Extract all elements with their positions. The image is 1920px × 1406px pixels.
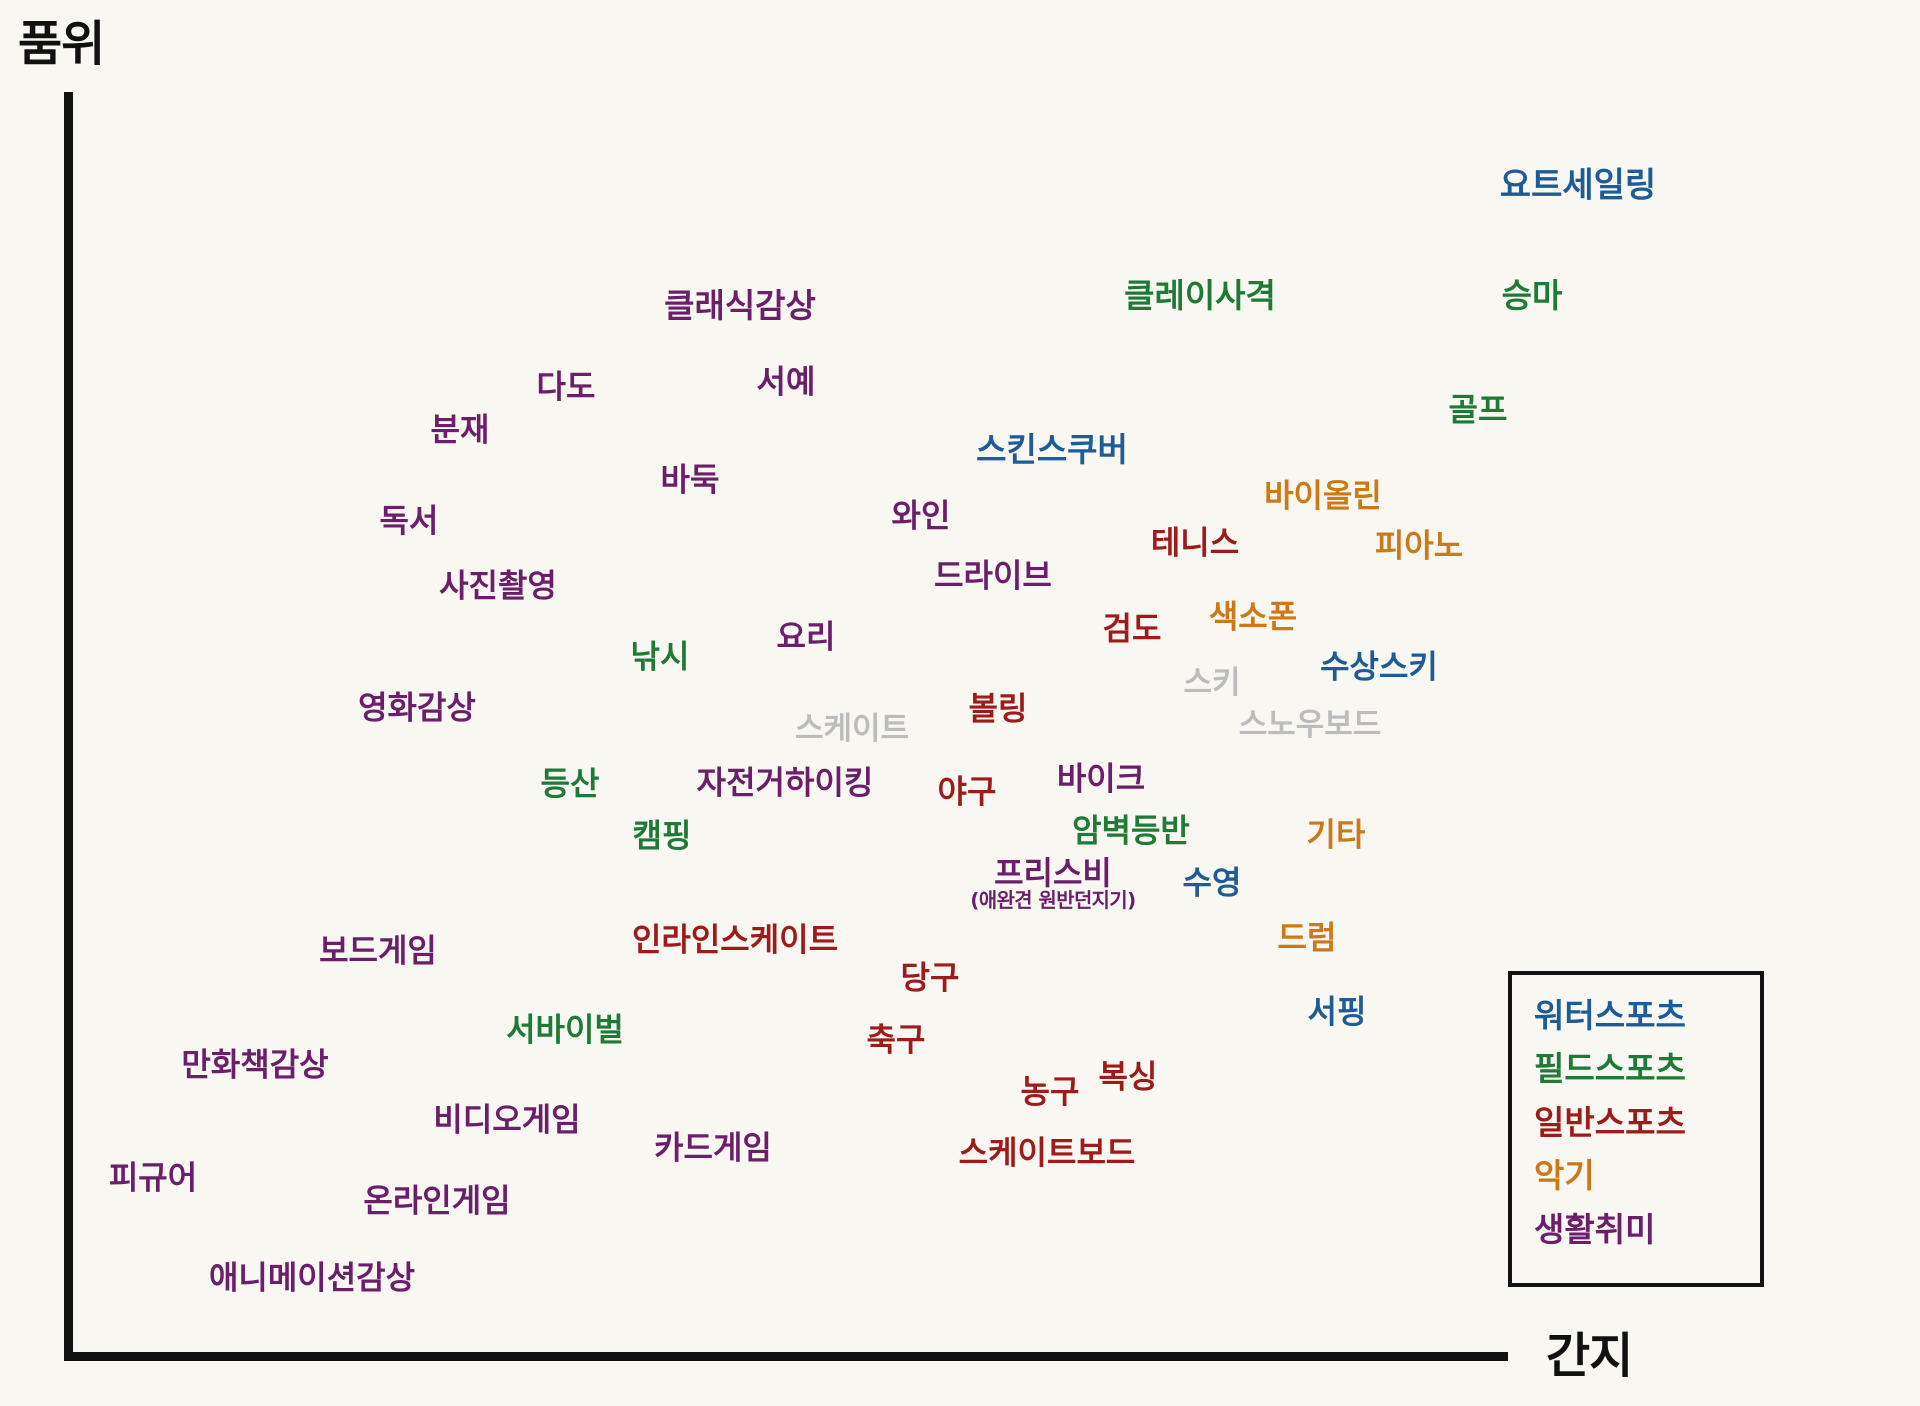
data-point-label: 검도 (1103, 613, 1162, 646)
data-point-name: 독서 (380, 502, 439, 540)
data-point-name: 자전거하이킹 (697, 764, 874, 802)
data-point-name: 승마 (1502, 276, 1563, 315)
data-point-name: 암벽등반 (1072, 812, 1190, 850)
data-point-label: 피아노 (1375, 530, 1463, 563)
data-point-name: 골프 (1449, 391, 1508, 429)
data-point-name: 당구 (901, 959, 960, 997)
data-point-label: 골프 (1449, 394, 1508, 427)
data-point-name: 서바이벌 (506, 1011, 624, 1049)
data-point-name: 드라이브 (934, 557, 1052, 595)
data-point-label: 카드게임 (654, 1132, 772, 1165)
data-point-name: 프리스비 (994, 854, 1112, 892)
data-point-name: 축구 (867, 1021, 926, 1059)
data-point-name: 색소폰 (1209, 598, 1297, 636)
data-point-label: 승마 (1502, 279, 1563, 313)
x-axis-line (64, 1352, 1508, 1361)
data-point-label: 인라인스케이트 (632, 924, 838, 957)
data-point-name: 온라인게임 (363, 1182, 510, 1220)
data-point-name: 드럼 (1278, 919, 1337, 957)
y-axis-line (64, 92, 73, 1360)
data-point-label: 서바이벌 (506, 1014, 624, 1047)
legend-item-water: 워터스포츠 (1534, 989, 1760, 1042)
data-point-label: 야구 (938, 776, 997, 809)
legend-item-life: 생활취미 (1534, 1203, 1760, 1256)
data-point-label: 당구 (901, 962, 960, 995)
data-point-label: 캠핑 (633, 820, 692, 853)
data-point-name: 기타 (1307, 816, 1366, 854)
data-point-label: 다도 (537, 371, 596, 404)
data-point-label: 볼링 (969, 693, 1028, 726)
data-point-label: 기타 (1307, 819, 1366, 852)
data-point-name: 테니스 (1151, 524, 1239, 562)
y-axis-label: 품위 (18, 4, 104, 74)
legend-item-field: 필드스포츠 (1534, 1042, 1760, 1095)
data-point-label: 스키 (1183, 668, 1240, 700)
data-point-label: 수영 (1183, 867, 1242, 900)
data-point-name: 스케이트보드 (959, 1134, 1136, 1172)
scatter-chart-canvas: 품위 간지 요트세일링클레이사격승마클래식감상서예다도골프분재스킨스쿠버바둑바이… (0, 0, 1920, 1406)
data-point-name: 바둑 (661, 461, 720, 499)
data-point-name: 바이크 (1057, 760, 1145, 798)
data-point-label: 온라인게임 (363, 1185, 510, 1218)
data-point-label: 보드게임 (319, 935, 437, 968)
data-point-label: 애니메이션감상 (209, 1262, 415, 1295)
data-point-label: 영화감상 (358, 692, 476, 725)
data-point-name: 농구 (1021, 1073, 1080, 1111)
data-point-name: 만화책감상 (181, 1046, 328, 1084)
data-point-label: 등산 (541, 768, 600, 801)
data-point-name: 스케이트 (795, 711, 909, 747)
data-point-sublabel: (애완견 원반던지기) (970, 891, 1135, 911)
data-point-name: 다도 (537, 368, 596, 406)
data-point-name: 와인 (892, 497, 951, 535)
data-point-label: 사진촬영 (439, 570, 557, 603)
data-point-name: 야구 (938, 773, 997, 811)
data-point-label: 서예 (757, 366, 816, 399)
legend-items: 워터스포츠필드스포츠일반스포츠악기생활취미 (1534, 989, 1760, 1256)
data-point-name: 보드게임 (319, 932, 437, 970)
data-point-label: 서핑 (1308, 996, 1367, 1029)
data-point-label: 드라이브 (934, 560, 1052, 593)
data-point-name: 수상스키 (1320, 648, 1438, 686)
data-point-label: 바이크 (1057, 763, 1145, 796)
data-point-label: 요리 (777, 621, 836, 654)
data-point-label: 비디오게임 (433, 1104, 580, 1137)
data-point-label: 암벽등반 (1072, 815, 1190, 848)
legend-item-music: 악기 (1534, 1149, 1760, 1202)
data-point-label: 수상스키 (1320, 651, 1438, 684)
data-point-label: 자전거하이킹 (697, 767, 874, 800)
data-point-label: 피규어 (109, 1162, 197, 1195)
data-point-name: 피규어 (109, 1159, 197, 1197)
data-point-name: 인라인스케이트 (632, 921, 838, 959)
data-point-label: 바둑 (661, 464, 720, 497)
data-point-name: 요트세일링 (1500, 166, 1656, 206)
data-point-label: 바이올린 (1264, 480, 1382, 513)
data-point-label: 클래식감상 (664, 289, 816, 323)
x-axis-label: 간지 (1546, 1316, 1632, 1386)
data-point-label: 테니스 (1151, 527, 1239, 560)
legend-box: 워터스포츠필드스포츠일반스포츠악기생활취미 (1508, 971, 1764, 1287)
data-point-label: 만화책감상 (181, 1049, 328, 1082)
data-point-name: 등산 (541, 765, 600, 803)
data-point-name: 카드게임 (654, 1129, 772, 1167)
data-point-name: 낚시 (631, 638, 690, 676)
data-point-name: 요리 (777, 618, 836, 656)
data-point-name: 분재 (431, 411, 490, 449)
data-point-label: 스킨스쿠버 (976, 433, 1128, 467)
data-point-label: 와인 (892, 500, 951, 533)
data-point-label: 스케이트 (795, 714, 909, 746)
data-point-name: 서핑 (1308, 993, 1367, 1031)
data-point-name: 비디오게임 (433, 1101, 580, 1139)
data-point-name: 스키 (1183, 665, 1240, 701)
data-point-name: 클레이사격 (1124, 276, 1276, 315)
data-point-name: 사진촬영 (439, 567, 557, 605)
data-point-name: 클래식감상 (664, 286, 816, 325)
data-point-label: 분재 (431, 414, 490, 447)
data-point-name: 복싱 (1099, 1058, 1158, 1096)
data-point-name: 서예 (757, 363, 816, 401)
data-point-label: 요트세일링 (1500, 169, 1656, 204)
data-point-label: 낚시 (631, 641, 690, 674)
data-point-name: 캠핑 (633, 817, 692, 855)
data-point-label: 스케이트보드 (959, 1137, 1136, 1170)
data-point-name: 스킨스쿠버 (976, 430, 1128, 469)
data-point-name: 피아노 (1375, 527, 1463, 565)
data-point-label: 색소폰 (1209, 601, 1297, 634)
data-point-label: 프리스비(애완견 원반던지기) (970, 857, 1135, 911)
data-point-name: 검도 (1103, 610, 1162, 648)
data-point-name: 애니메이션감상 (209, 1259, 415, 1297)
legend-item-sport: 일반스포츠 (1534, 1096, 1760, 1149)
data-point-label: 복싱 (1099, 1061, 1158, 1094)
data-point-name: 수영 (1183, 864, 1242, 902)
data-point-name: 스노우보드 (1239, 707, 1382, 743)
data-point-label: 스노우보드 (1239, 710, 1382, 742)
data-point-label: 독서 (380, 505, 439, 538)
data-point-label: 축구 (867, 1024, 926, 1057)
data-point-name: 영화감상 (358, 689, 476, 727)
data-point-label: 드럼 (1278, 922, 1337, 955)
data-point-name: 바이올린 (1264, 477, 1382, 515)
data-point-name: 볼링 (969, 690, 1028, 728)
data-point-label: 농구 (1021, 1076, 1080, 1109)
data-point-label: 클레이사격 (1124, 279, 1276, 313)
